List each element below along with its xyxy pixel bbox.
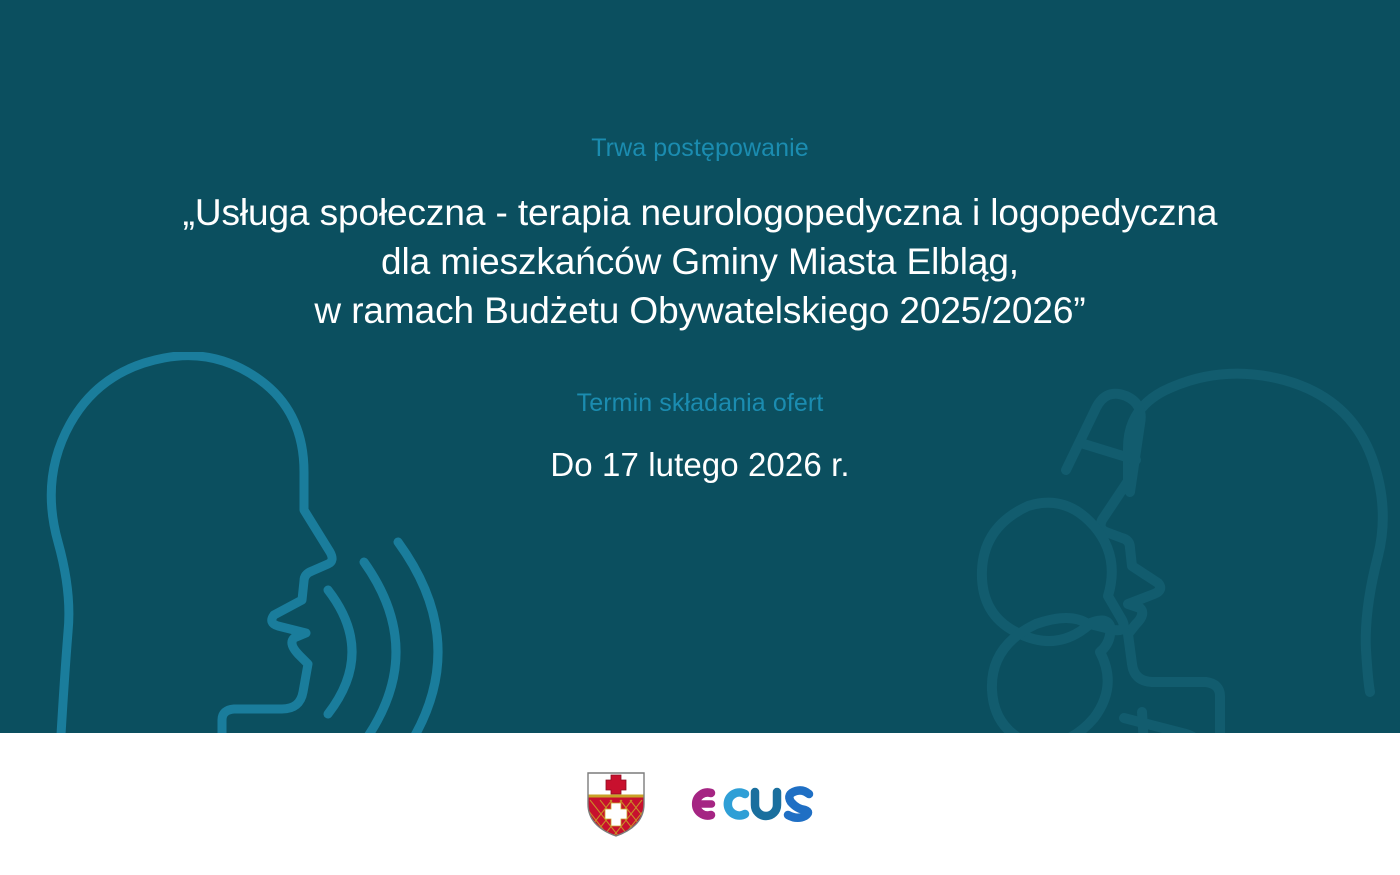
logo-footer: [0, 733, 1400, 875]
poster-content: Trwa postępowanie „Usługa społeczna - te…: [0, 0, 1400, 733]
page-title-line-2: dla mieszkańców Gminy Miasta Elbląg,: [183, 237, 1218, 286]
page-title-line-3: w ramach Budżetu Obywatelskiego 2025/202…: [183, 286, 1218, 335]
elblag-coat-of-arms-icon: [585, 770, 647, 838]
deadline-value: Do 17 lutego 2026 r.: [550, 445, 849, 485]
deadline-label: Termin składania ofert: [577, 388, 824, 418]
hero-panel: Trwa postępowanie „Usługa społeczna - te…: [0, 0, 1400, 733]
page-title: „Usługa społeczna - terapia neurologoped…: [183, 188, 1218, 335]
announcement-poster: Trwa postępowanie „Usługa społeczna - te…: [0, 0, 1400, 875]
ecus-logo: [687, 783, 815, 825]
page-title-line-1: „Usługa społeczna - terapia neurologoped…: [183, 188, 1218, 237]
status-label: Trwa postępowanie: [591, 133, 809, 163]
